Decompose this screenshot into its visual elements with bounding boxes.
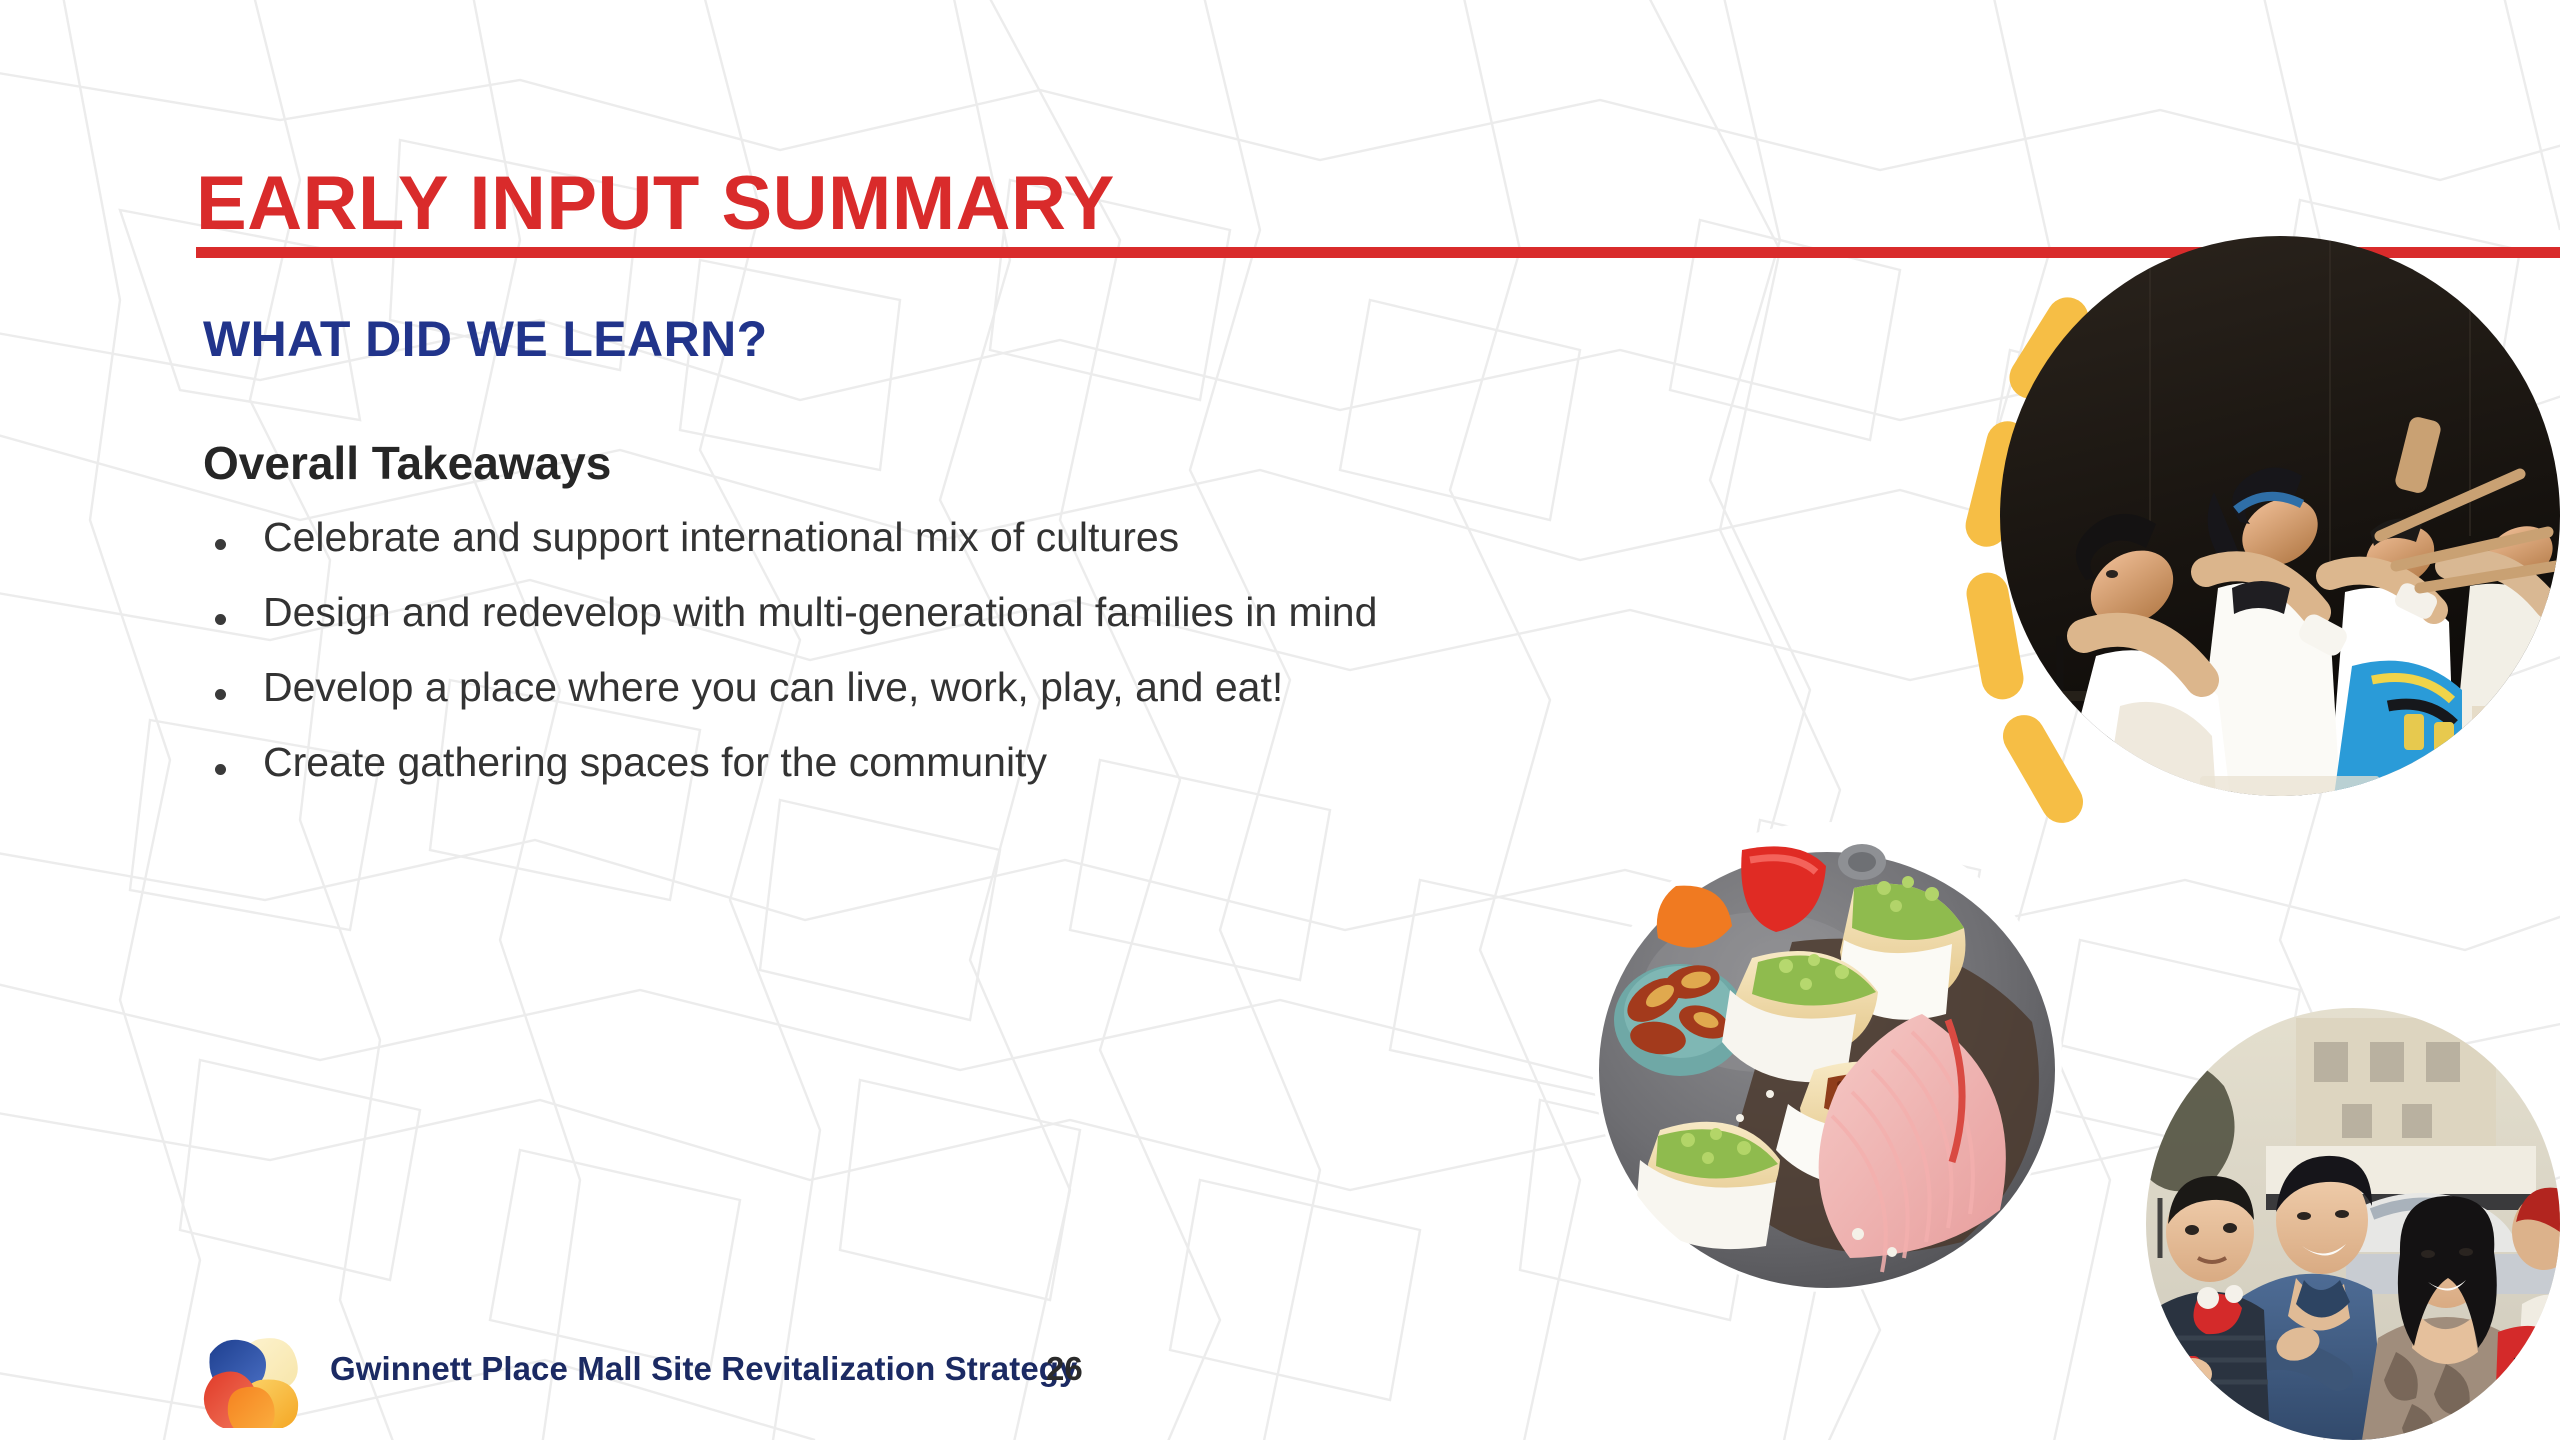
bullet-dot-icon <box>215 764 226 775</box>
takeaways-bullet-list: Celebrate and support international mix … <box>203 515 1503 815</box>
gwinnett-pinwheel-logo <box>198 1330 308 1428</box>
page-title: EARLY INPUT SUMMARY <box>196 166 1115 242</box>
bullet-dot-icon <box>215 614 226 625</box>
list-item-label: Create gathering spaces for the communit… <box>263 740 1047 786</box>
list-item: Celebrate and support international mix … <box>203 515 1503 590</box>
family-portrait-photo <box>2146 1008 2560 1440</box>
footer-project-title: Gwinnett Place Mall Site Revitalization … <box>330 1352 1078 1385</box>
footer-page-number: 26 <box>1046 1352 1083 1385</box>
list-item-label: Develop a place where you can live, work… <box>263 665 1283 711</box>
list-item: Design and redevelop with multi-generati… <box>203 590 1503 665</box>
list-item-label: Celebrate and support international mix … <box>263 515 1179 561</box>
bullet-dot-icon <box>215 539 226 550</box>
slide-canvas: EARLY INPUT SUMMARY WHAT DID WE LEARN? O… <box>0 0 2560 1440</box>
taiko-drummers-photo <box>2000 236 2560 796</box>
international-food-platter-photo <box>1592 822 2062 1292</box>
list-item-label: Design and redevelop with multi-generati… <box>263 590 1377 636</box>
slide-subtitle: WHAT DID WE LEARN? <box>203 314 768 364</box>
bullet-dot-icon <box>215 689 226 700</box>
list-item: Create gathering spaces for the communit… <box>203 740 1503 815</box>
section-heading: Overall Takeaways <box>203 440 611 486</box>
list-item: Develop a place where you can live, work… <box>203 665 1503 740</box>
